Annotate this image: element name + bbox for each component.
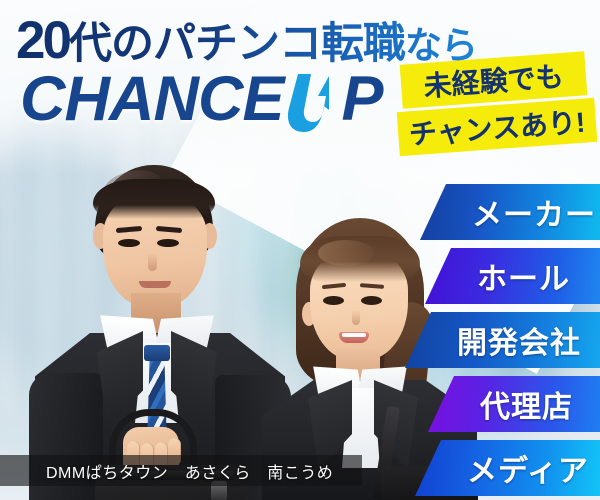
- female-eye-right: [361, 296, 382, 305]
- male-tie-knot: [144, 345, 170, 361]
- male-nose: [148, 253, 157, 271]
- male-eye-left: [118, 239, 140, 247]
- category-button-media[interactable]: メディア: [415, 440, 600, 496]
- female-teeth: [342, 333, 366, 337]
- female-eye-left: [323, 296, 344, 305]
- female-fringe: [300, 236, 420, 282]
- category-button-agency[interactable]: 代理店: [428, 376, 600, 432]
- logo-p-text: P: [342, 64, 383, 134]
- headline-rest: 代のパチンコ: [69, 20, 321, 68]
- category-button-development-company[interactable]: 開発会社: [405, 312, 600, 368]
- category-label: メディア: [467, 446, 589, 490]
- advertisement-banner[interactable]: 20代のパチンコ転職なら CHANCEP 未経験でも チャンスあり! メーカー …: [0, 0, 600, 500]
- category-button-hall[interactable]: ホール: [425, 248, 600, 304]
- female-nose: [352, 310, 360, 325]
- male-mouth: [139, 281, 171, 288]
- logo-chance-text: CHANCE: [20, 64, 284, 134]
- male-model: [35, 165, 285, 500]
- badge-label: 未経験でも: [422, 55, 565, 105]
- headline-text: 20代のパチンコ転職なら: [16, 14, 477, 67]
- headline-emphasis: 転職: [321, 20, 405, 68]
- male-eye-right: [157, 239, 179, 247]
- chance-up-logo: CHANCEP: [20, 68, 383, 131]
- male-fringe: [93, 179, 215, 219]
- category-label: ホール: [477, 254, 570, 298]
- category-label: 開発会社: [457, 318, 581, 362]
- credit-text: DMMぱちタウン あさくら 南こうめ: [46, 459, 333, 483]
- credit-strip: DMMぱちタウン あさくら 南こうめ: [0, 455, 362, 486]
- headline-number: 20: [16, 11, 69, 70]
- category-label: 代理店: [480, 382, 573, 426]
- category-button-maker[interactable]: メーカー: [420, 184, 600, 240]
- category-label: メーカー: [472, 190, 596, 234]
- logo-u-arrow-icon: [284, 68, 326, 131]
